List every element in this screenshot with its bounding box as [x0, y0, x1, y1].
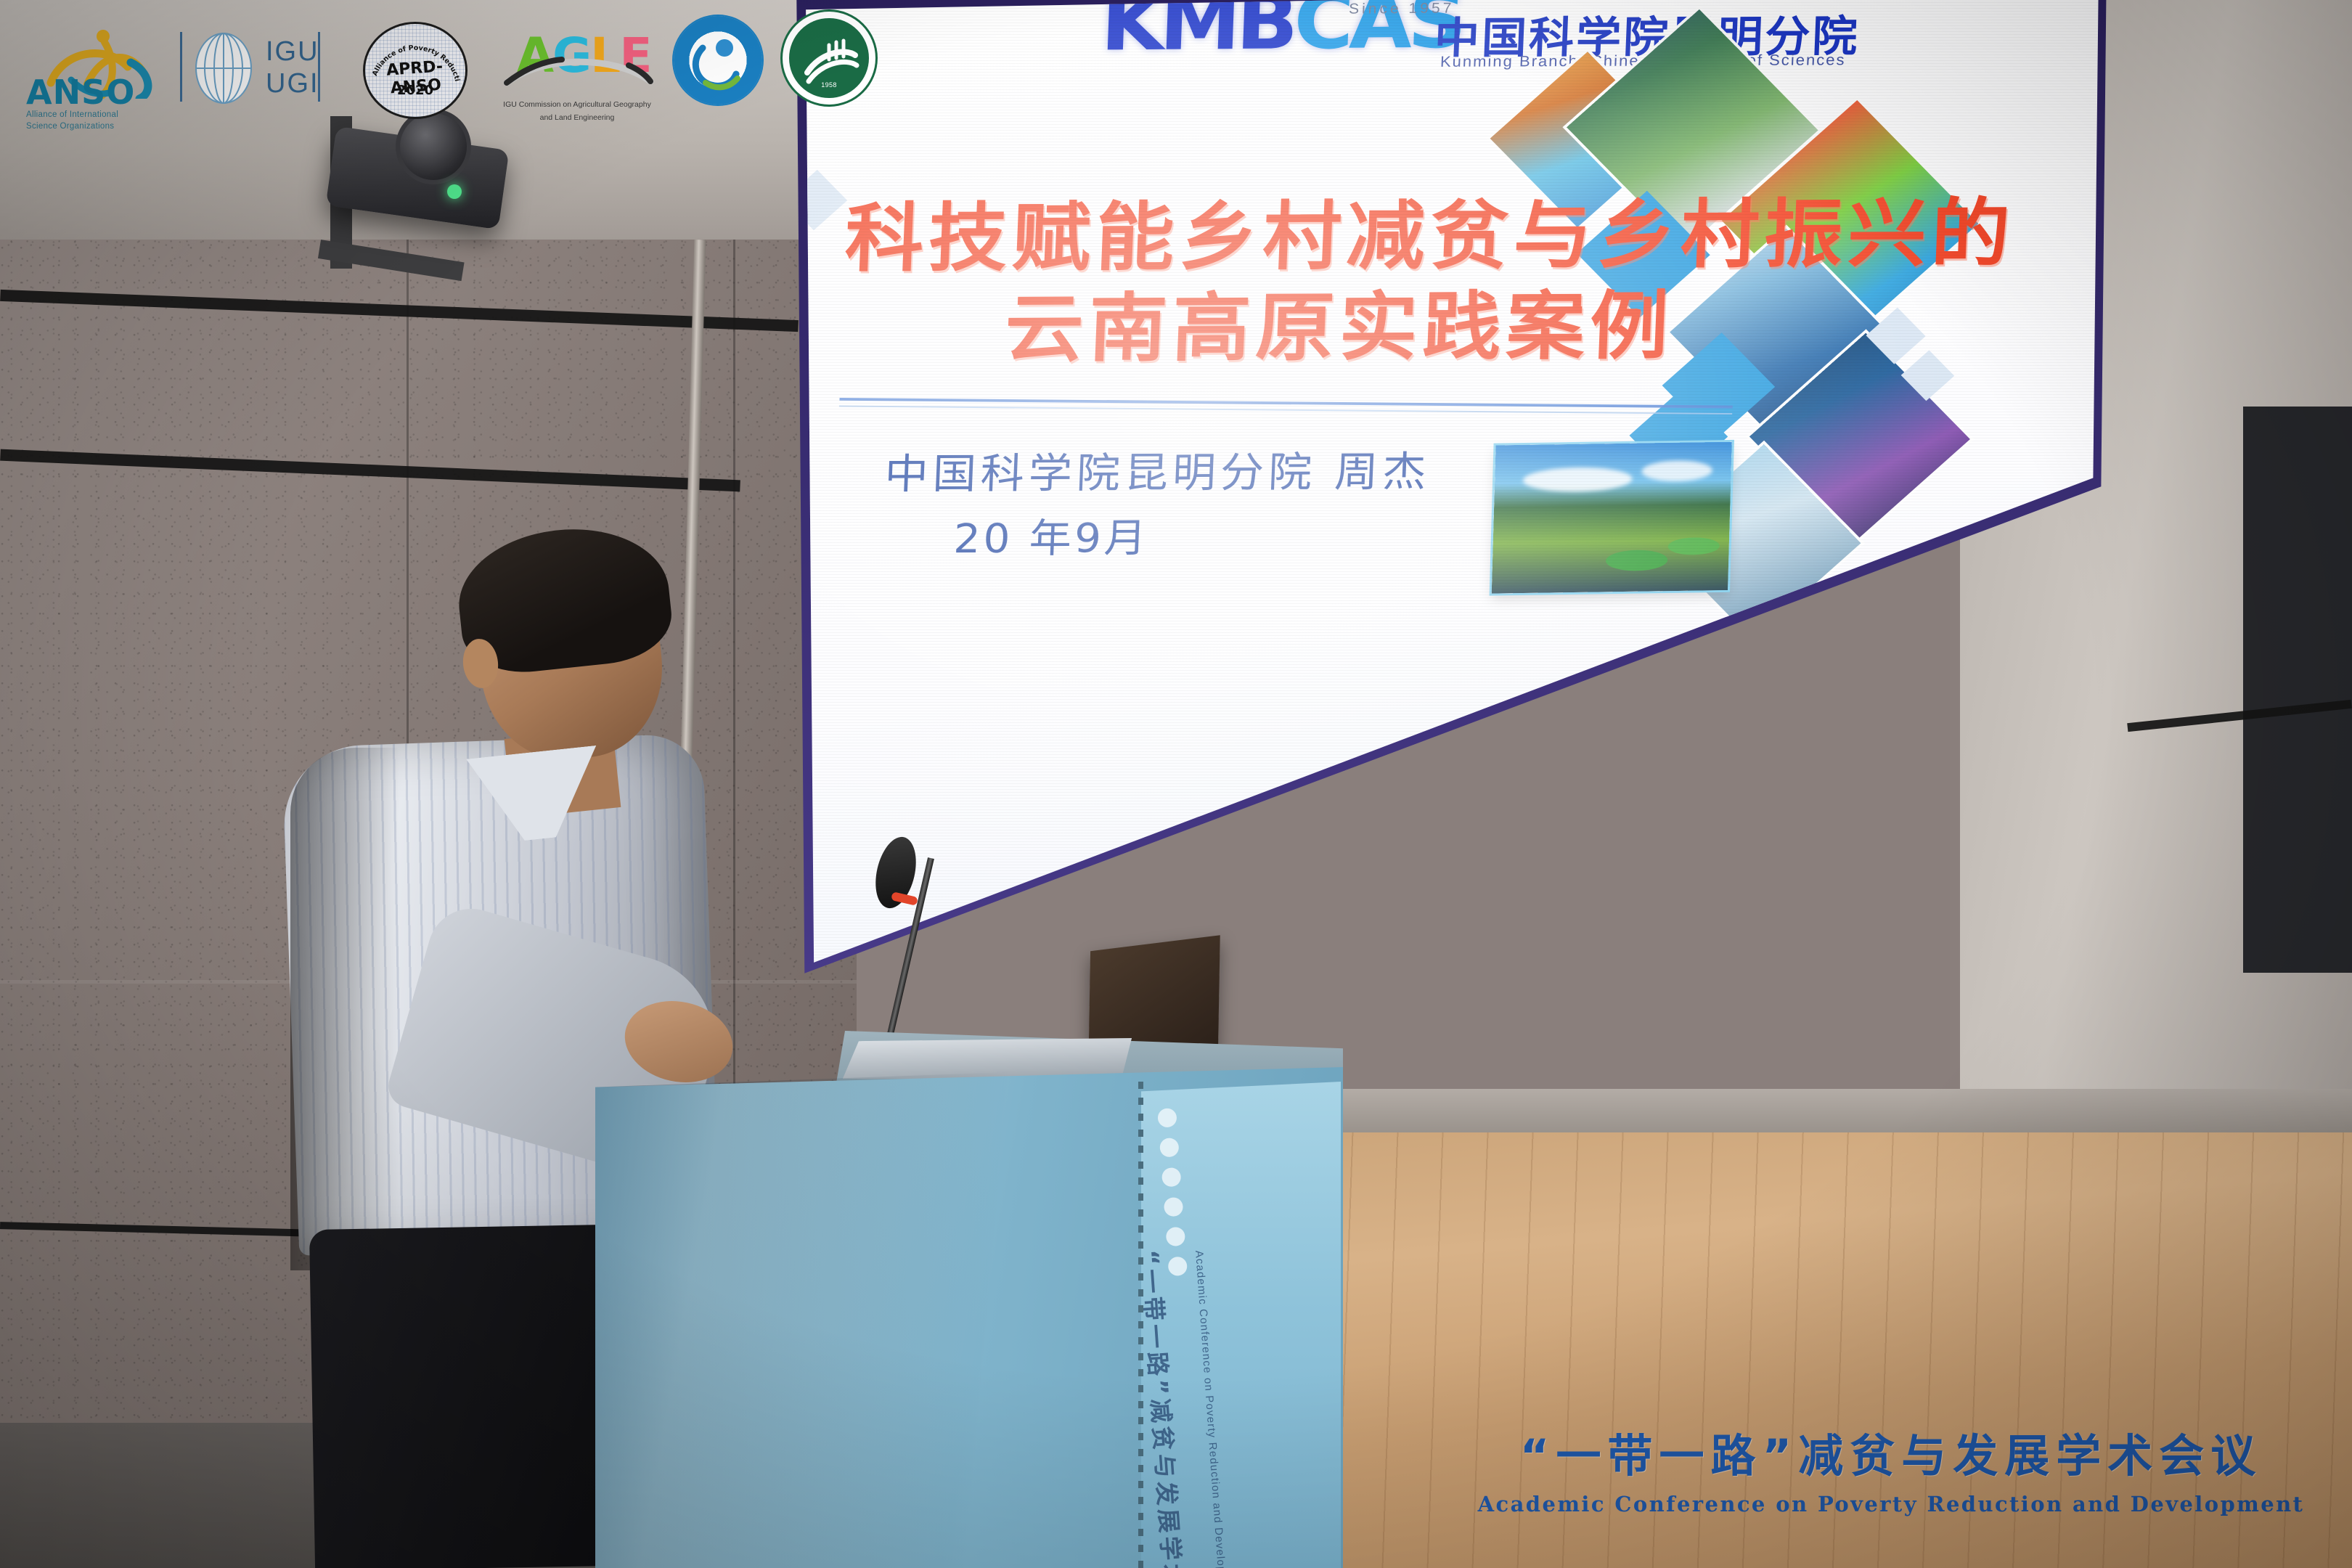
right-wall-dark-panel	[2243, 407, 2352, 973]
logo-rule-left	[180, 32, 182, 102]
watermark-title-en: Academic Conference on Poverty Reduction…	[1474, 1492, 2308, 1516]
ningxia-mark-icon	[783, 12, 875, 105]
lectern-logo-dot	[1157, 1108, 1177, 1128]
logo-cas-institute	[674, 16, 762, 105]
logo-agle: AGLE IGU Commission on Agricultural Geog…	[499, 23, 658, 132]
ningxia-year: 1958	[783, 81, 875, 89]
logo-ugi-label: UGI	[266, 70, 319, 97]
seal-year: 2020	[365, 83, 465, 98]
logo-igu-ugi: IGU UGI	[180, 28, 325, 107]
slide-date: 20 年9月	[952, 505, 1151, 564]
agle-subtitle-1: IGU Commission on Agricultural Geography	[499, 99, 655, 111]
conference-watermark: “一带一路”减贫与发展学术会议 Academic Conference on P…	[1474, 1419, 2308, 1516]
lectern-logo-dot	[1159, 1138, 1180, 1158]
speaker-shadow	[290, 748, 399, 1270]
lectern-logo-dot	[1164, 1197, 1184, 1217]
led-video-wall: KMBCAS Since 1957 中国科学院昆明分院 Kunming Bran…	[791, 0, 2120, 1060]
lectern-banner-en: Academic Conference on Poverty Reduction…	[1193, 1250, 1230, 1568]
lectern-shading	[595, 1067, 1147, 1568]
slide-title: 科技赋能乡村减贫与乡村振兴的 云南高原实践案例	[840, 189, 1821, 375]
kmbcas-logo-main: KMB	[1100, 0, 1296, 68]
logo-igu-label: IGU	[266, 38, 319, 65]
lectern-edge-perforation	[1138, 1082, 1143, 1568]
status-led-icon	[447, 184, 462, 199]
logo-anso-acronym: ANSO	[26, 73, 135, 112]
logo-aprd-anso-seal: Alliance of Poverty Reduction and Develo…	[363, 22, 467, 119]
watermark-title-cn: “一带一路”减贫与发展学术会议	[1474, 1419, 2308, 1485]
presenter-line: 中国科学院昆明分院 周杰	[883, 438, 1432, 501]
logo-anso-subtitle-2: Science Organizations	[26, 121, 114, 133]
presentation-slide: KMBCAS Since 1957 中国科学院昆明分院 Kunming Bran…	[791, 0, 2120, 1021]
logo-ningxia-university: 1958	[783, 12, 875, 105]
slide-title-line1: 科技赋能乡村减贫与乡村振兴的	[844, 189, 1821, 285]
photo-lily-pond	[1492, 442, 1732, 594]
logo-rule-right	[318, 32, 320, 102]
lectern-side-panel: “一带一路”减贫与发展学术会议 Academic Conference on P…	[1141, 1082, 1341, 1568]
partner-logo-bar: ANSO Alliance of International Science O…	[0, 0, 944, 152]
agle-subtitle-2: and Land Engineering	[499, 112, 655, 124]
lectern-banner-cn: “一带一路”减贫与发展学术会议	[1134, 1249, 1196, 1568]
lectern-logo-dot	[1166, 1227, 1186, 1247]
lectern-logo-dot	[1167, 1257, 1188, 1277]
globe-icon	[193, 30, 254, 106]
logo-anso: ANSO Alliance of International Science O…	[20, 20, 166, 129]
cas-institute-mark-icon	[674, 16, 762, 105]
agle-swoosh-icon	[501, 52, 656, 86]
slide-title-line2: 云南高原实践案例	[1003, 280, 1817, 375]
conference-room-photo: KMBCAS Since 1957 中国科学院昆明分院 Kunming Bran…	[0, 0, 2352, 1568]
logo-anso-subtitle-1: Alliance of International	[26, 109, 118, 121]
lectern-logo-dot	[1161, 1167, 1182, 1188]
